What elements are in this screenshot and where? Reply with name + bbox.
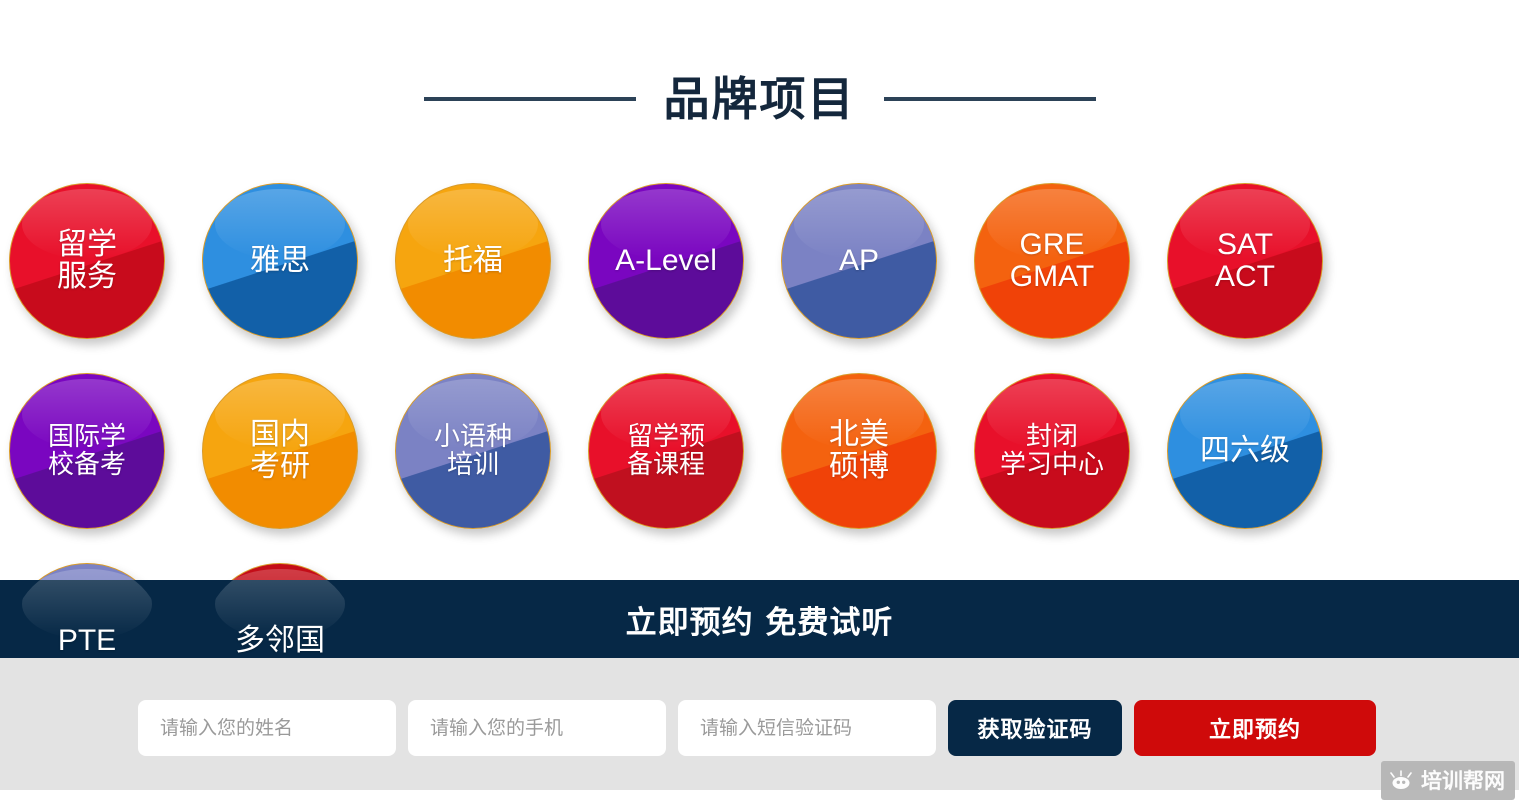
program-circle-a-level[interactable]: A-Level — [588, 183, 744, 339]
program-circle-beimei-shuobo[interactable]: 北美 硕博 — [781, 373, 937, 529]
program-circle-label: A-Level — [609, 245, 723, 277]
program-circle-fengbi-xuexi-zhongxin[interactable]: 封闭 学习中心 — [974, 373, 1130, 529]
program-circle-label: 国内 考研 — [244, 419, 316, 484]
program-circle-siliuji[interactable]: 四六级 — [1167, 373, 1323, 529]
name-input[interactable] — [138, 700, 396, 756]
phone-input[interactable] — [408, 700, 666, 756]
title-rule-right — [884, 97, 1096, 101]
get-verification-code-button[interactable]: 获取验证码 — [948, 700, 1122, 756]
program-circle-gre-gmat[interactable]: GRE GMAT — [974, 183, 1130, 339]
appointment-form: 获取验证码 立即预约 — [138, 700, 1376, 756]
program-circle-xiaoyuzhong-peixun[interactable]: 小语种 培训 — [395, 373, 551, 529]
page-title: 品牌项目 — [664, 76, 856, 122]
program-circle-label: GRE GMAT — [1004, 229, 1100, 294]
program-circle-label: 多邻国 — [229, 625, 331, 657]
program-circle-label: 封闭 学习中心 — [994, 423, 1110, 479]
program-circle-label: 托福 — [437, 245, 509, 277]
program-circle-liuxue-fuwu[interactable]: 留学 服务 — [9, 183, 165, 339]
section-title-block: 品牌项目 — [0, 62, 1519, 136]
program-circle-yasi[interactable]: 雅思 — [202, 183, 358, 339]
program-circle-label: 小语种 培训 — [428, 423, 518, 479]
program-circle-label: 留学预 备课程 — [621, 423, 711, 479]
program-circle-label: AP — [833, 245, 885, 277]
program-circle-liuxue-yubei-kecheng[interactable]: 留学预 备课程 — [588, 373, 744, 529]
program-circle-label: SAT ACT — [1209, 229, 1281, 294]
program-circle-label: 雅思 — [244, 245, 316, 277]
program-circle-label: 北美 硕博 — [823, 419, 895, 484]
program-circle-tuofu[interactable]: 托福 — [395, 183, 551, 339]
program-circle-ap[interactable]: AP — [781, 183, 937, 339]
appointment-form-strip: 获取验证码 立即预约 — [0, 658, 1519, 790]
program-circle-label: 留学 服务 — [51, 229, 123, 294]
program-circle-label: 四六级 — [1194, 435, 1296, 467]
submit-appointment-button[interactable]: 立即预约 — [1134, 700, 1376, 756]
site-watermark: 培训帮网 — [1381, 761, 1515, 800]
program-circle-label: 国际学 校备考 — [42, 423, 132, 479]
program-circle-guonei-kaoyan[interactable]: 国内 考研 — [202, 373, 358, 529]
sms-code-input[interactable] — [678, 700, 936, 756]
sun-eye-icon — [1389, 770, 1413, 790]
watermark-text: 培训帮网 — [1421, 765, 1505, 795]
cta-banner: 立即预约 免费试听 — [0, 580, 1519, 658]
program-circle-label: PTE — [52, 625, 122, 657]
title-rule-left — [424, 97, 636, 101]
cta-banner-text: 立即预约 免费试听 — [626, 597, 894, 642]
program-circle-guoji-xuexiao-beikao[interactable]: 国际学 校备考 — [9, 373, 165, 529]
program-circle-sat-act[interactable]: SAT ACT — [1167, 183, 1323, 339]
